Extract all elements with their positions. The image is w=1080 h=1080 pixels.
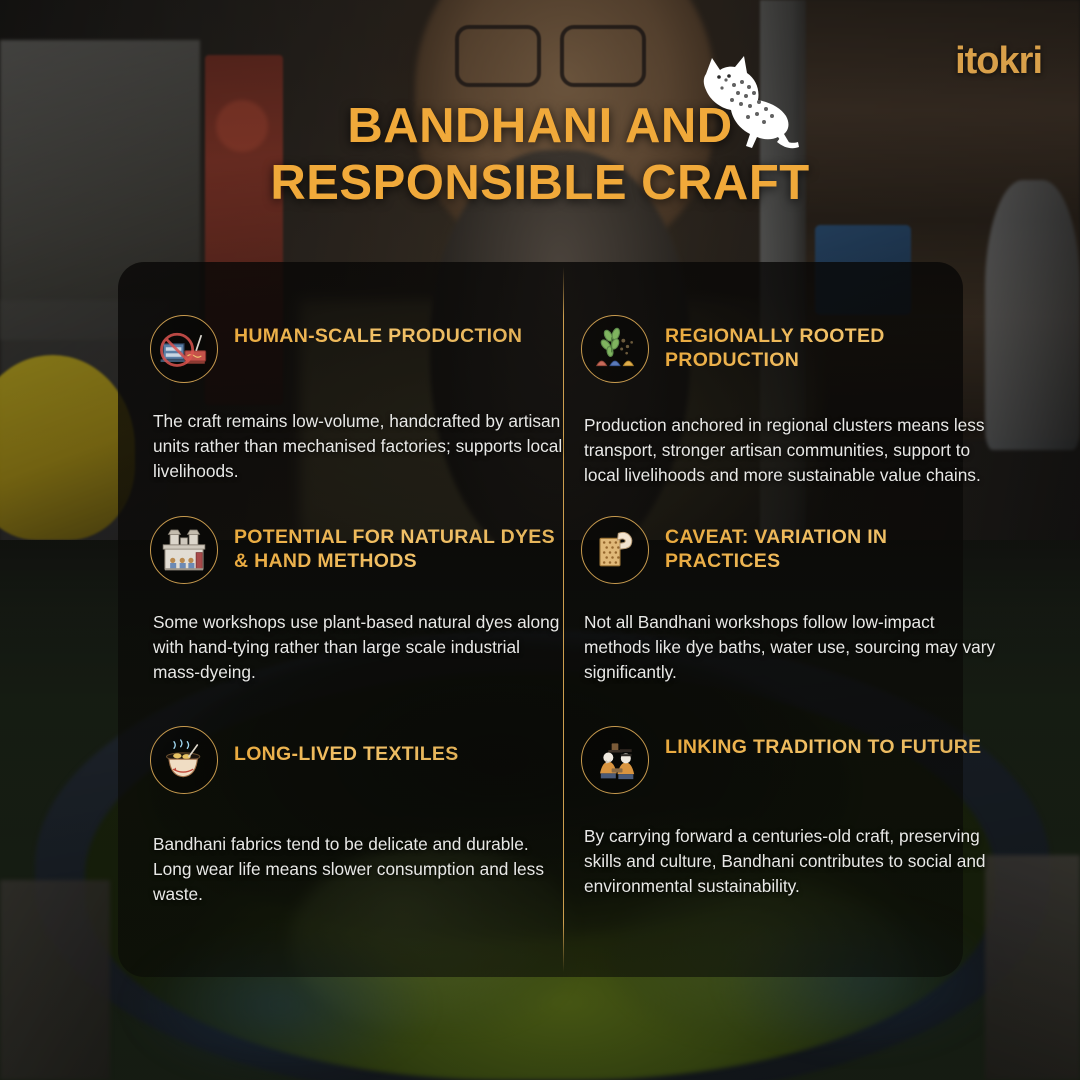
workshop-building-icon (150, 516, 218, 584)
card-body: Not all Bandhani workshops follow low-im… (581, 610, 1001, 685)
artisan-right (618, 753, 635, 779)
card-title: POTENTIAL FOR NATURAL DYES & HAND METHOD… (234, 516, 570, 573)
card-header: REGIONALLY ROOTED PRODUCTION (581, 315, 1001, 383)
two-artisans-icon (581, 726, 649, 794)
artisan-left (600, 753, 617, 779)
card-header: CAVEAT: VARIATION IN PRACTICES (581, 516, 1001, 584)
card-body: The craft remains low-volume, handcrafte… (150, 409, 570, 484)
cards-grid: HUMAN-SCALE PRODUCTION The craft remains… (0, 0, 1080, 1080)
card-header: LONG-LIVED TEXTILES (150, 726, 570, 794)
card-human-scale-production: HUMAN-SCALE PRODUCTION The craft remains… (150, 315, 570, 484)
hand-holding-fabric-icon (581, 516, 649, 584)
card-title: HUMAN-SCALE PRODUCTION (234, 315, 522, 348)
card-linking-tradition-to-future: LINKING TRADITION TO FUTURE By carrying … (581, 726, 1001, 899)
card-body: Some workshops use plant-based natural d… (150, 610, 570, 685)
card-regionally-rooted-production: REGIONALLY ROOTED PRODUCTION Production … (581, 315, 1001, 488)
card-header: HUMAN-SCALE PRODUCTION (150, 315, 570, 383)
card-header: POTENTIAL FOR NATURAL DYES & HAND METHOD… (150, 516, 570, 584)
plant-and-dye-powders-icon (581, 315, 649, 383)
card-natural-dyes-hand-methods: POTENTIAL FOR NATURAL DYES & HAND METHOD… (150, 516, 570, 685)
card-title: CAVEAT: VARIATION IN PRACTICES (665, 516, 1001, 573)
card-title: LONG-LIVED TEXTILES (234, 726, 459, 766)
no-factory-icon (150, 315, 218, 383)
card-long-lived-textiles: LONG-LIVED TEXTILES Bandhani fabrics ten… (150, 726, 570, 907)
card-title: REGIONALLY ROOTED PRODUCTION (665, 315, 1001, 372)
card-body: Production anchored in regional clusters… (581, 413, 1001, 488)
card-body: By carrying forward a centuries-old craf… (581, 824, 1001, 899)
card-caveat-variation-in-practices: CAVEAT: VARIATION IN PRACTICES Not all B… (581, 516, 1001, 685)
card-body: Bandhani fabrics tend to be delicate and… (150, 832, 570, 907)
steaming-dye-pot-icon (150, 726, 218, 794)
card-header: LINKING TRADITION TO FUTURE (581, 726, 1001, 794)
card-title: LINKING TRADITION TO FUTURE (665, 726, 981, 759)
